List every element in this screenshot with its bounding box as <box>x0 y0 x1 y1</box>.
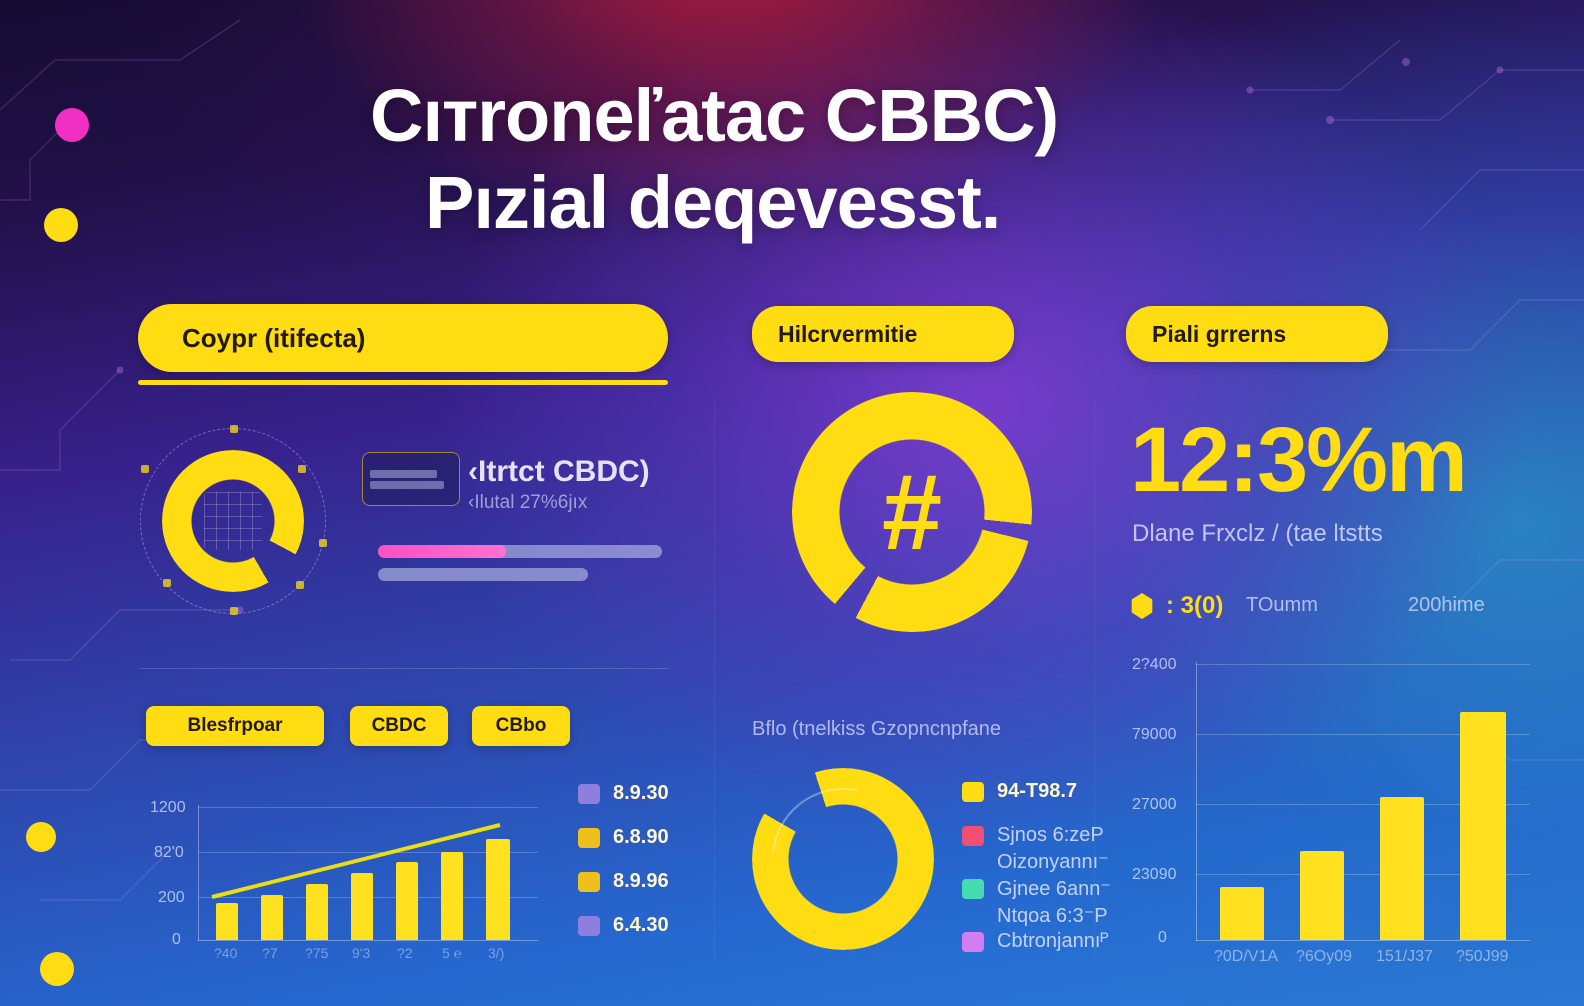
panel-divider-1 <box>714 400 715 960</box>
ytick-label: 79000 <box>1132 726 1177 744</box>
legend-label: 6.8.90 <box>613 826 669 849</box>
ytick-label: 23090 <box>1132 866 1177 884</box>
xtick-label: ?6Oy09 <box>1296 948 1352 966</box>
middle-panel-caption: Bflo (tnelkiss Gzopncnpfane <box>752 718 1001 741</box>
xtick-label: ?2 <box>397 945 413 961</box>
mini-card-ghost-line <box>370 481 444 489</box>
right-meta-right: 200hime <box>1408 594 1485 617</box>
bar <box>1220 887 1264 940</box>
progress-bar-primary-fill <box>378 545 506 558</box>
accent-dot-yellow-left <box>26 822 56 852</box>
filter-pill-2[interactable]: CBbo <box>472 706 570 746</box>
accent-dot-yellow-top <box>44 208 78 242</box>
legend-label: 6.4.30 <box>613 914 669 937</box>
xtick-label: ?50J99 <box>1456 948 1509 966</box>
legend-swatch <box>578 916 600 936</box>
xtick-label: ?0D/V1A <box>1214 948 1278 966</box>
tab-primary[interactable]: Coypr (itifecta) <box>138 304 668 372</box>
legend-label: Sjnos 6:zeP <box>997 824 1104 847</box>
orbit-node <box>319 539 327 547</box>
legend-item: Ntqoa 6:3⁻P <box>962 903 1111 928</box>
legend-swatch <box>578 784 600 804</box>
legend-label: Gjnee 6ann⁻ <box>997 876 1111 901</box>
filter-pill-1[interactable]: CBDC <box>350 706 448 746</box>
filter-pill-0[interactable]: Blesfrpoar <box>146 706 324 746</box>
legend-item: Cbtronjannıᴾ <box>962 930 1111 953</box>
xtick-label: 5 ℮ <box>442 945 462 961</box>
progress-bar-secondary[interactable] <box>378 568 588 581</box>
legend-item: 6.8.90 <box>578 826 669 849</box>
orbit-node <box>230 425 238 433</box>
legend-swatch <box>962 932 984 952</box>
chart-left-bar-line: 1200 82'0 200 0 ?40 ?7 ?75 9'3 ?2 5 ℮ 3/… <box>150 785 550 970</box>
gridline <box>1196 664 1530 665</box>
mini-card-ghost-line <box>370 470 437 478</box>
ytick-label: 27000 <box>1132 796 1177 814</box>
left-kpi-title: ‹Itrtct CBDC) <box>468 455 650 489</box>
chart-right-bar: 2?400 79000 27000 23090 0 ?0D/V1A ?6Oy09… <box>1110 640 1530 970</box>
ring-grid-pattern <box>204 492 262 550</box>
legend-label: Cbtronjannıᴾ <box>997 930 1109 953</box>
xtick-label: ?7 <box>262 945 278 961</box>
bar <box>1380 797 1424 940</box>
progress-bar-primary[interactable] <box>378 545 662 558</box>
ytick-label: 2?400 <box>1132 656 1177 674</box>
legend-swatch <box>578 828 600 848</box>
legend-label: 94-T98.7 <box>997 780 1077 803</box>
xtick-label: 9'3 <box>352 945 370 961</box>
legend-label: Oizonyannı⁻ <box>997 849 1109 874</box>
left-kpi-subtitle: ‹Ilutal 27%6jıx <box>468 492 587 514</box>
xtick-label: ?40 <box>214 945 237 961</box>
hash-icon: # <box>792 392 1032 632</box>
bar <box>1300 851 1344 940</box>
page-title: Cıтroneľatac CBBC) Pızial deqevesst. <box>370 72 1370 247</box>
title-line-2: Pızial deqevesst. <box>425 159 1370 246</box>
title-line-1: Cıтroneľatac CBBC) <box>370 72 1370 159</box>
accent-dot-magenta <box>55 108 89 142</box>
bar <box>1460 712 1506 940</box>
right-kpi-value: 12:3%m <box>1130 408 1466 513</box>
orbit-node <box>163 579 171 587</box>
legend-swatch <box>962 826 984 846</box>
mini-metric-card <box>362 452 460 506</box>
tab-middle[interactable]: Hilcrvermitie <box>752 306 1014 362</box>
legend-item: 8.9.96 <box>578 870 669 893</box>
tab-primary-underline <box>138 380 668 385</box>
orbit-node <box>298 465 306 473</box>
accent-dot-yellow-bottom <box>40 952 74 986</box>
legend-label: Ntqoa 6:3⁻P <box>997 903 1108 928</box>
orbit-node <box>296 581 304 589</box>
coin-icon <box>1130 593 1154 619</box>
xtick-label: ?75 <box>305 945 328 961</box>
legend-item: Sjnos 6:zeP <box>962 824 1111 847</box>
trend-line <box>150 785 550 970</box>
coin-value: : 3(0) <box>1166 592 1223 620</box>
tab-right[interactable]: Piali grrerns <box>1126 306 1388 362</box>
left-chart-legend: 8.9.30 6.8.90 8.9.96 6.4.30 <box>578 782 669 958</box>
middle-chart-legend: 94-T98.7 Sjnos 6:zeP Oizonyannı⁻ Gjnee 6… <box>962 780 1111 974</box>
orbit-node <box>230 607 238 615</box>
legend-swatch <box>962 879 984 899</box>
xtick-label: 151/J37 <box>1376 948 1433 966</box>
dashboard-canvas: Cıтroneľatac CBBC) Pızial deqevesst. Coy… <box>0 0 1584 1006</box>
left-panel-divider <box>140 668 668 669</box>
legend-swatch <box>962 782 984 802</box>
orbit-node <box>141 465 149 473</box>
x-axis <box>1196 940 1530 941</box>
right-kpi-subtitle: Dlane Frxclz / (tae ltstts <box>1132 520 1383 548</box>
legend-item: 94-T98.7 <box>962 780 1111 803</box>
legend-swatch <box>578 872 600 892</box>
legend-swatch-empty <box>962 906 984 926</box>
legend-label: 8.9.30 <box>613 782 669 805</box>
legend-label: 8.9.96 <box>613 870 669 893</box>
xtick-label: 3/) <box>488 945 504 961</box>
right-meta-left: TOumm <box>1246 594 1318 617</box>
legend-item: Oizonyannı⁻ <box>962 849 1111 874</box>
legend-swatch-empty <box>962 852 984 872</box>
legend-item: 6.4.30 <box>578 914 669 937</box>
y-axis <box>1196 662 1197 941</box>
legend-item: 8.9.30 <box>578 782 669 805</box>
legend-item: Gjnee 6ann⁻ <box>962 876 1111 901</box>
ytick-label: 0 <box>1158 929 1167 947</box>
